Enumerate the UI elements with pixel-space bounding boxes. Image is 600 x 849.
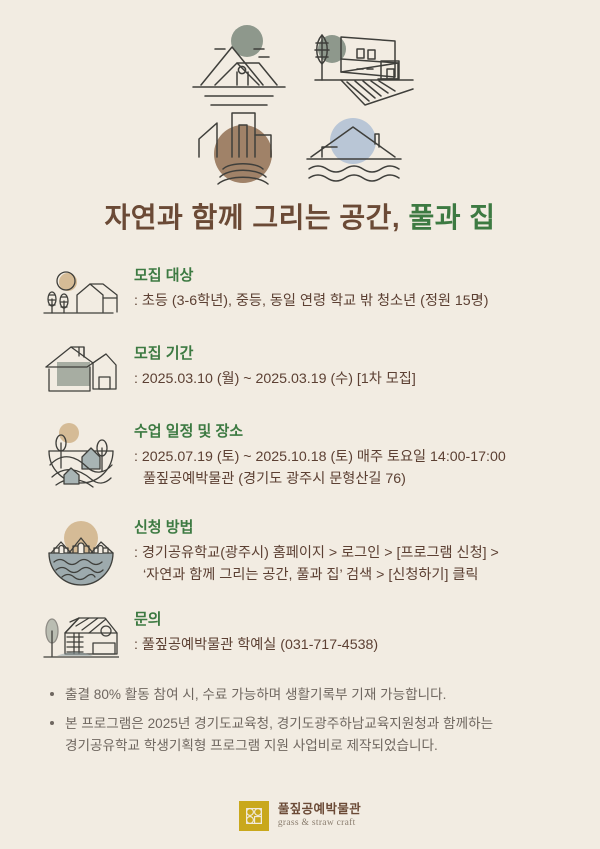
info-row-period: 모집 기간 : 2025.03.10 (월) ~ 2025.03.19 (수) … [42, 340, 572, 402]
info-body-contact: 문의 : 풀짚공예박물관 학예실 (031-717-4538) [134, 606, 378, 656]
info-body-target: 모집 대상 : 초등 (3-6학년), 중등, 동일 연령 학교 밖 청소년 (… [134, 262, 488, 312]
footer-name-en: grass & straw craft [278, 818, 361, 828]
info-text-schedule-0: : 2025.07.19 (토) ~ 2025.10.18 (토) 매주 토요일… [134, 446, 506, 468]
info-text-target-0: : 초등 (3-6학년), 중등, 동일 연령 학교 밖 청소년 (정원 15명… [134, 290, 488, 312]
barn-tree-icon [42, 606, 120, 668]
info-row-apply: 신청 방법 : 경기공유학교(광주시) 홈페이지 > 로그인 > [프로그램 신… [42, 514, 572, 590]
notes-list: 출결 80% 활동 참여 시, 수료 가능하며 생활기록부 기재 가능합니다. … [0, 684, 600, 757]
footer-logo: 풀짚공예박물관 grass & straw craft [0, 801, 600, 831]
info-text-schedule-1: 풀짚공예박물관 (경기도 광주시 문형산길 76) [134, 468, 506, 490]
hero-modern-building-illustration [315, 35, 413, 105]
info-list: 모집 대상 : 초등 (3-6학년), 중등, 동일 연령 학교 밖 청소년 (… [0, 262, 600, 668]
title-accent: 풀과 집 [408, 202, 495, 233]
village-water-sun-icon [42, 514, 120, 590]
info-text-apply-0: : 경기공유학교(광주시) 홈페이지 > 로그인 > [프로그램 신청] > [134, 542, 499, 564]
info-heading-apply: 신청 방법 [134, 516, 499, 537]
info-row-schedule: 수업 일정 및 장소 : 2025.07.19 (토) ~ 2025.10.18… [42, 418, 572, 498]
title-main: 자연과 함께 그리는 공간, [104, 202, 400, 233]
info-heading-target: 모집 대상 [134, 264, 488, 285]
hero-illustration [0, 0, 600, 190]
poster-title: 자연과 함께 그리는 공간, 풀과 집 [0, 196, 600, 236]
note-line-1: 본 프로그램은 2025년 경기도교육청, 경기도광주하남교육지원청과 함께하는 [65, 716, 493, 731]
hero-city-circle-illustration [199, 113, 272, 184]
info-body-schedule: 수업 일정 및 장소 : 2025.07.19 (토) ~ 2025.10.18… [134, 418, 506, 490]
info-body-apply: 신청 방법 : 경기공유학교(광주시) 홈페이지 > 로그인 > [프로그램 신… [134, 514, 499, 586]
poster-title-wrap: 자연과 함께 그리는 공간, 풀과 집 [0, 196, 600, 236]
info-body-period: 모집 기간 : 2025.03.10 (월) ~ 2025.03.19 (수) … [134, 340, 416, 390]
hero-house-water-illustration [307, 118, 401, 181]
note-line-1: 출결 80% 활동 참여 시, 수료 가능하며 생활기록부 기재 가능합니다. [65, 687, 446, 702]
info-heading-schedule: 수업 일정 및 장소 [134, 420, 506, 441]
info-text-period-0: : 2025.03.10 (월) ~ 2025.03.19 (수) [1차 모집… [134, 368, 416, 390]
note-item: 출결 80% 활동 참여 시, 수료 가능하며 생활기록부 기재 가능합니다. [48, 684, 576, 706]
footer-name-kr: 풀짚공예박물관 [278, 803, 361, 817]
sun-trees-house-icon [42, 262, 120, 324]
hero-house-sun-illustration [193, 25, 285, 105]
info-row-contact: 문의 : 풀짚공예박물관 학예실 (031-717-4538) [42, 606, 572, 668]
info-heading-period: 모집 기간 [134, 342, 416, 363]
info-row-target: 모집 대상 : 초등 (3-6학년), 중등, 동일 연령 학교 밖 청소년 (… [42, 262, 572, 324]
note-line-2: 경기공유학교 학생기획형 프로그램 지원 사업비로 제작되었습니다. [65, 735, 576, 757]
landscape-circle-icon [42, 418, 120, 498]
grass-straw-museum-logo-icon [239, 801, 269, 831]
house-roof-icon [42, 340, 120, 402]
poster-root: 자연과 함께 그리는 공간, 풀과 집 [0, 0, 600, 849]
footer-logo-text: 풀짚공예박물관 grass & straw craft [278, 803, 361, 828]
note-item: 본 프로그램은 2025년 경기도교육청, 경기도광주하남교육지원청과 함께하는… [48, 713, 576, 757]
info-heading-contact: 문의 [134, 608, 378, 629]
info-text-contact-0: : 풀짚공예박물관 학예실 (031-717-4538) [134, 634, 378, 656]
info-text-apply-1: ‘자연과 함께 그리는 공간, 풀과 집’ 검색 > [신청하기] 클릭 [134, 564, 499, 586]
